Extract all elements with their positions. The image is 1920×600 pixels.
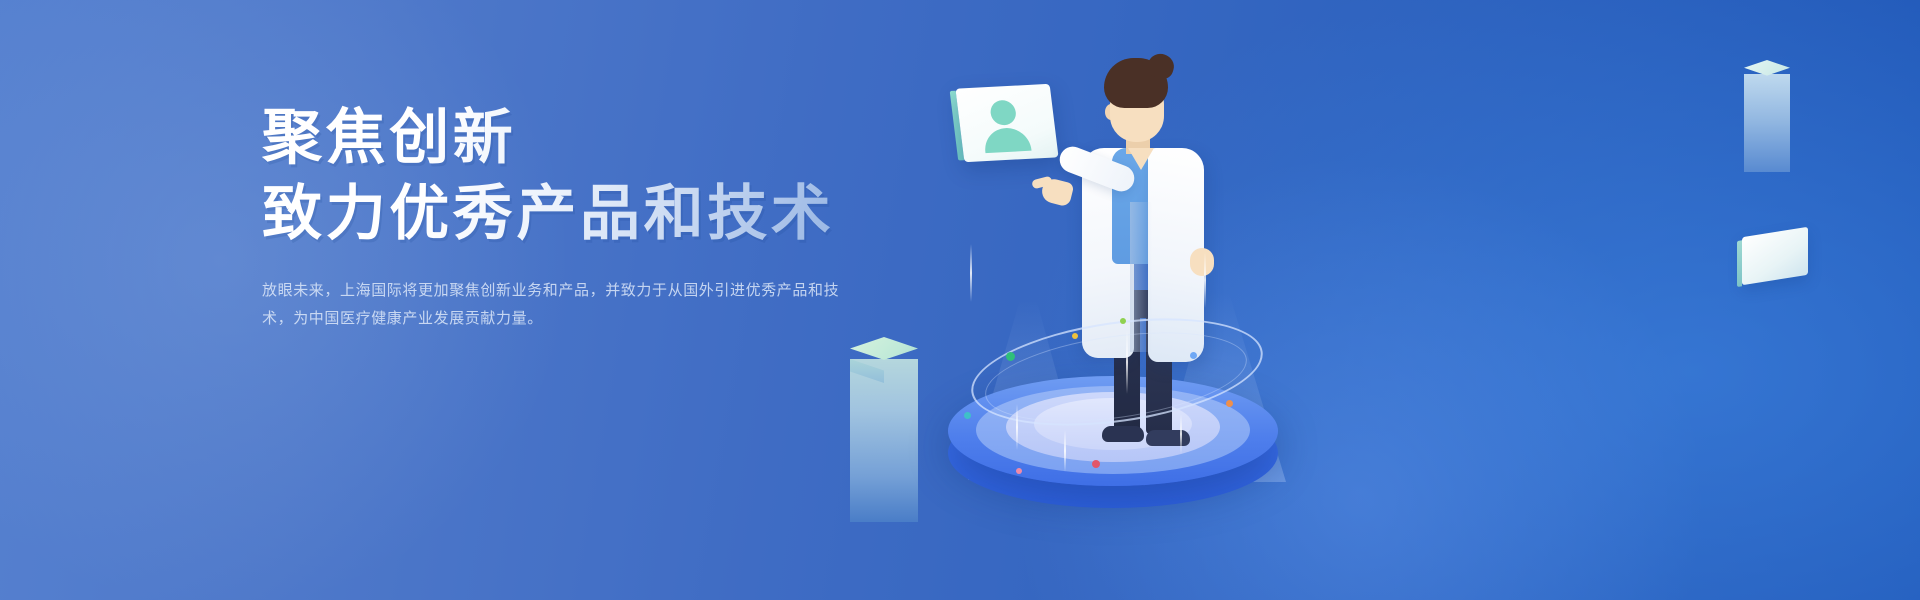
dot-lime	[1120, 318, 1126, 324]
dot-green	[1006, 352, 1015, 361]
user-avatar-icon-head	[989, 100, 1017, 126]
light-streak-1	[970, 244, 972, 302]
decor-box-small-face	[1744, 74, 1790, 172]
dot-yellow	[1072, 333, 1078, 339]
banner-copy-block: 聚焦创新 致力优秀产品和技术 放眼未来，上海国际将更加聚焦创新业务和产品，并致力…	[262, 104, 902, 332]
decor-box-tall	[850, 337, 918, 522]
doctor-shoe-left	[1102, 426, 1144, 442]
illustration-stage	[820, 0, 1920, 600]
headline-line-1: 聚焦创新	[262, 104, 902, 172]
doctor-hand-right	[1190, 248, 1214, 276]
dot-pink	[1016, 468, 1022, 474]
decor-box-small	[1744, 60, 1790, 172]
decor-card-flat-edge	[1737, 240, 1742, 287]
decor-box-tall-face	[850, 359, 918, 522]
dot-blue	[1190, 352, 1197, 359]
light-streak-6	[1180, 414, 1182, 454]
dot-red	[1092, 460, 1100, 468]
headline-line-2: 致力优秀产品和技术	[262, 180, 902, 248]
decor-card-flat	[1742, 227, 1808, 285]
hero-banner: 聚焦创新 致力优秀产品和技术 放眼未来，上海国际将更加聚焦创新业务和产品，并致力…	[0, 0, 1920, 600]
light-streak-2	[1016, 404, 1018, 450]
light-streak-5	[1204, 252, 1206, 308]
dot-teal	[964, 412, 971, 419]
user-avatar-icon-body	[983, 127, 1032, 153]
light-streak-3	[1064, 430, 1066, 472]
banner-subcopy: 放眼未来，上海国际将更加聚焦创新业务和产品，并致力于从国外引进优秀产品和技术，为…	[262, 277, 852, 333]
dot-orange	[1226, 400, 1233, 407]
light-streak-4	[1126, 330, 1128, 394]
doctor-shoe-right	[1146, 430, 1190, 446]
